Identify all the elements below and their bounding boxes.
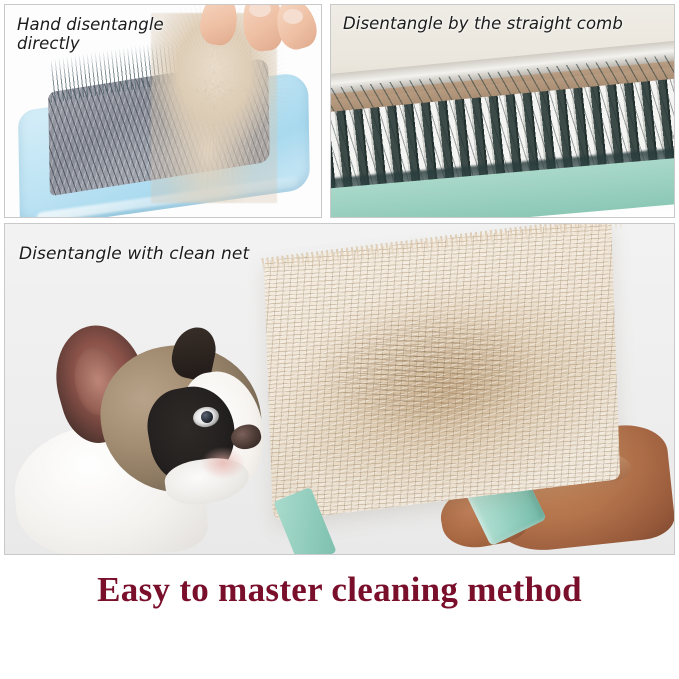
caption-straight-comb: Disentangle by the straight comb: [343, 14, 623, 33]
panel-straight-comb: Disentangle by the straight comb: [330, 4, 675, 218]
caption-hand-disentangle: Hand disentangle directly: [17, 15, 164, 54]
headline-text: Easy to master cleaning method: [0, 572, 679, 607]
straight-comb-photo: [331, 5, 674, 217]
collected-hair: [306, 292, 546, 442]
fingernail: [283, 9, 303, 24]
french-bulldog: [15, 319, 305, 549]
caption-clean-net: Disentangle with clean net: [19, 244, 249, 264]
panel-hand-disentangle: Hand disentangle directly: [4, 4, 322, 218]
dog-pupil: [201, 411, 213, 423]
mesh-cleaning-net: [267, 240, 617, 500]
dog-cheek-blush: [201, 447, 245, 479]
clean-net-photo: [5, 224, 674, 554]
panel-clean-net: Disentangle with clean net: [4, 223, 675, 555]
infographic-page: Hand disentangle directly Disentangle by…: [0, 0, 679, 679]
